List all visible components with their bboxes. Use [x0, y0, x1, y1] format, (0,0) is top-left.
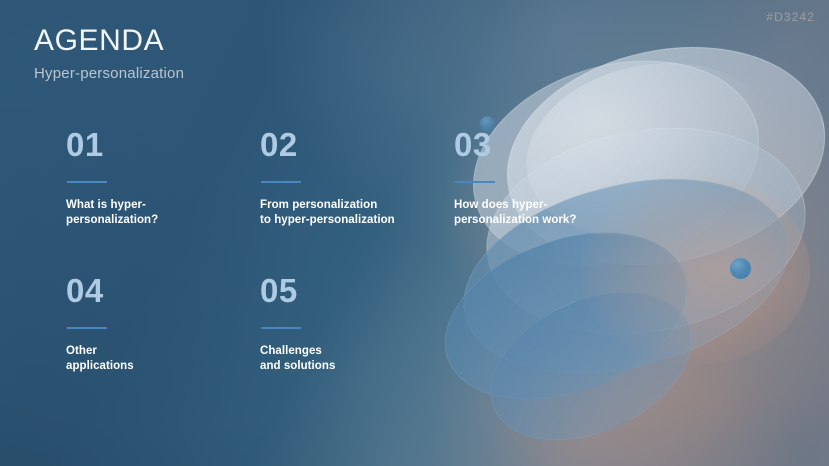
agenda-item-divider — [261, 181, 301, 183]
page-subtitle: Hyper-personalization — [34, 66, 184, 81]
agenda-item-label: From personalization to hyper-personaliz… — [260, 198, 454, 228]
watermark-label: #D3242 — [766, 10, 815, 24]
agenda-item-divider — [67, 181, 107, 183]
agenda-item-divider — [67, 327, 107, 329]
agenda-item-05[interactable]: 05 Challenges and solutions — [260, 274, 454, 374]
agenda-item-label: Other applications — [66, 344, 260, 374]
agenda-item-01[interactable]: 01 What is hyper- personalization? — [66, 128, 260, 274]
agenda-item-label: Challenges and solutions — [260, 344, 454, 374]
agenda-item-number: 01 — [66, 128, 260, 161]
agenda-slide: AGENDA Hyper-personalization #D3242 01 W… — [0, 0, 829, 466]
agenda-list: 01 What is hyper- personalization? 02 Fr… — [66, 128, 626, 374]
agenda-item-number: 02 — [260, 128, 454, 161]
agenda-item-label: What is hyper- personalization? — [66, 198, 260, 228]
agenda-item-divider — [455, 181, 495, 183]
slide-header: AGENDA Hyper-personalization — [34, 26, 184, 81]
agenda-item-divider — [261, 327, 301, 329]
agenda-item-number: 05 — [260, 274, 454, 307]
agenda-item-04[interactable]: 04 Other applications — [66, 274, 260, 374]
agenda-item-label: How does hyper- personalization work? — [454, 198, 648, 228]
agenda-item-number: 03 — [454, 128, 648, 161]
page-title: AGENDA — [34, 26, 184, 56]
agenda-item-02[interactable]: 02 From personalization to hyper-persona… — [260, 128, 454, 274]
agenda-item-03[interactable]: 03 How does hyper- personalization work? — [454, 128, 648, 274]
agenda-item-number: 04 — [66, 274, 260, 307]
